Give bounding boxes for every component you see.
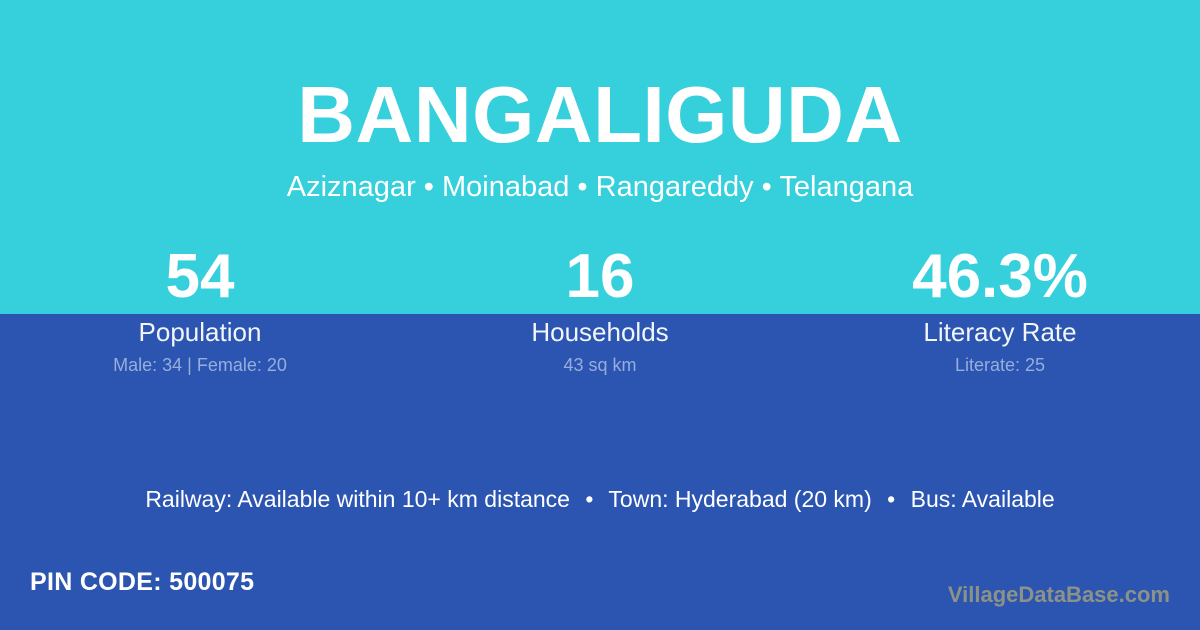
page-title: BANGALIGUDA <box>0 74 1200 156</box>
stat-literacy-rate: 46.3% Literacy Rate Literate: 25 <box>800 240 1200 376</box>
stat-population-value: 54 <box>0 240 400 314</box>
stat-literacy-rate-sub: Literate: 25 <box>800 354 1200 376</box>
stat-literacy-rate-value: 46.3% <box>800 240 1200 314</box>
amenity-separator-1: • <box>576 484 602 514</box>
amenity-bus: Bus: Available <box>911 486 1055 512</box>
stat-literacy-rate-label: Literacy Rate <box>800 316 1200 348</box>
pin-code: PIN CODE: 500075 <box>30 567 254 597</box>
stat-population-sub: Male: 34 | Female: 20 <box>0 354 400 376</box>
stat-population-label: Population <box>0 316 400 348</box>
amenity-railway: Railway: Available within 10+ km distanc… <box>145 486 570 512</box>
stat-households-value: 16 <box>400 240 800 314</box>
amenity-town: Town: Hyderabad (20 km) <box>608 486 871 512</box>
stat-households-sub: 43 sq km <box>400 354 800 376</box>
brand-logo: VillageDataBase.com <box>948 581 1170 609</box>
amenity-separator-2: • <box>878 484 904 514</box>
stat-households: 16 Households 43 sq km <box>400 240 800 376</box>
title-block: BANGALIGUDA Aziznagar • Moinabad • Ranga… <box>0 74 1200 204</box>
footer: PIN CODE: 500075 VillageDataBase.com <box>0 555 1200 630</box>
breadcrumb: Aziznagar • Moinabad • Rangareddy • Tela… <box>0 170 1200 205</box>
stat-population: 54 Population Male: 34 | Female: 20 <box>0 240 400 376</box>
stat-households-label: Households <box>400 316 800 348</box>
amenities-line: Railway: Available within 10+ km distanc… <box>0 484 1200 514</box>
stats-row: 54 Population Male: 34 | Female: 20 16 H… <box>0 240 1200 376</box>
village-info-card: BANGALIGUDA Aziznagar • Moinabad • Ranga… <box>0 0 1200 630</box>
